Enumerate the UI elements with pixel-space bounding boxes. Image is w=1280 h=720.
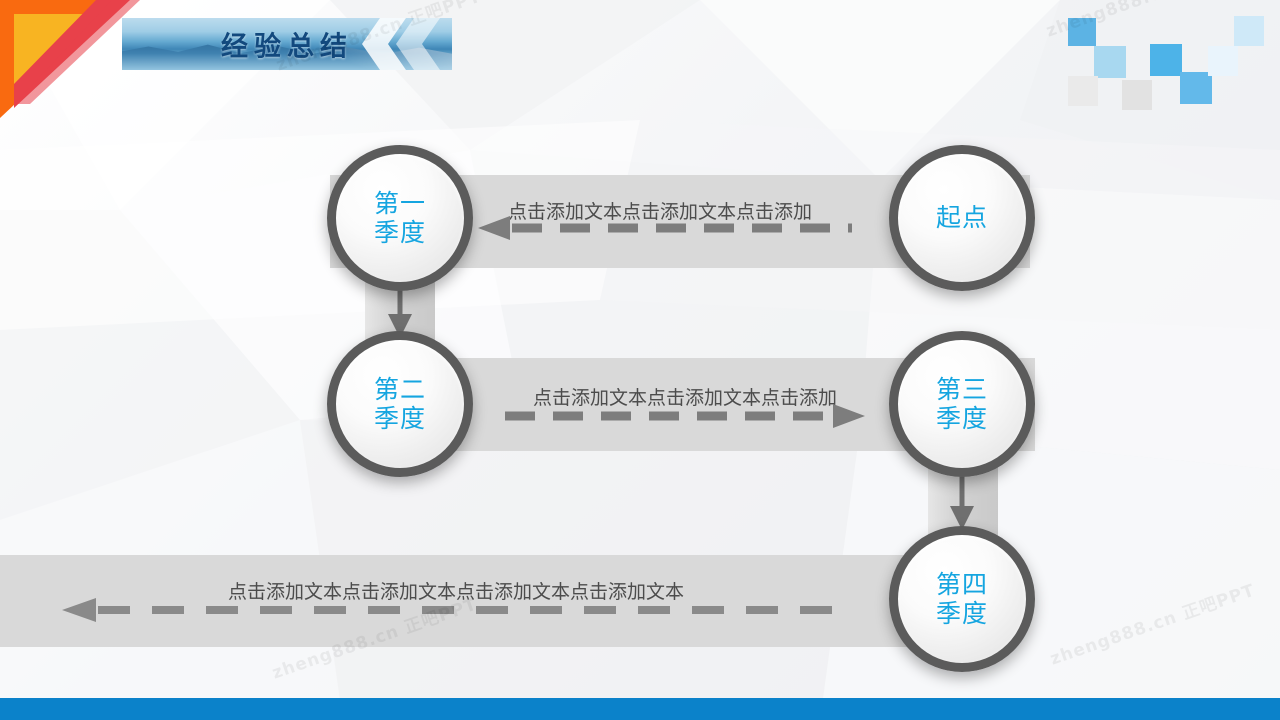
node-q1[interactable]: 第一 季度	[327, 145, 473, 291]
node-q3[interactable]: 第三 季度	[889, 331, 1035, 477]
slide-canvas: 经验总结 点击添加文本点击添加文本点击添加 点击添加文本点击添加文本点击添加 点…	[0, 0, 1280, 720]
corner-decoration	[0, 0, 140, 125]
mosaic-square	[1150, 44, 1182, 76]
connector-q3-to-q4-arrow-down-icon	[949, 470, 975, 532]
row-2-arrow-right-icon	[505, 404, 865, 428]
row-3-arrow-left-icon	[62, 598, 842, 622]
mosaic-square	[1094, 46, 1126, 78]
mosaic-decoration	[1050, 8, 1270, 118]
page-title: 经验总结	[122, 25, 452, 64]
node-q3-label-2: 季度	[936, 404, 988, 434]
mosaic-square	[1234, 16, 1264, 46]
node-q4-label-2: 季度	[936, 599, 988, 629]
node-q2[interactable]: 第二 季度	[327, 331, 473, 477]
node-q4[interactable]: 第四 季度	[889, 526, 1035, 672]
mosaic-square	[1180, 72, 1212, 104]
title-banner: 经验总结	[122, 18, 452, 70]
mosaic-square	[1068, 18, 1096, 46]
bottom-accent-bar	[0, 698, 1280, 720]
node-q4-label-1: 第四	[936, 570, 988, 600]
node-q1-label-2: 季度	[374, 218, 426, 248]
watermark: zheng888.cn 正吧PPT	[1046, 576, 1258, 670]
node-q3-label-1: 第三	[936, 375, 988, 405]
node-start-label-1: 起点	[936, 203, 988, 233]
mosaic-square	[1122, 80, 1152, 110]
row-1-arrow-left-icon	[478, 216, 852, 240]
mosaic-square	[1068, 76, 1098, 106]
node-start[interactable]: 起点	[889, 145, 1035, 291]
node-q2-label-1: 第二	[374, 375, 426, 405]
mosaic-square	[1208, 46, 1238, 76]
node-q1-label-1: 第一	[374, 189, 426, 219]
node-q2-label-2: 季度	[374, 404, 426, 434]
